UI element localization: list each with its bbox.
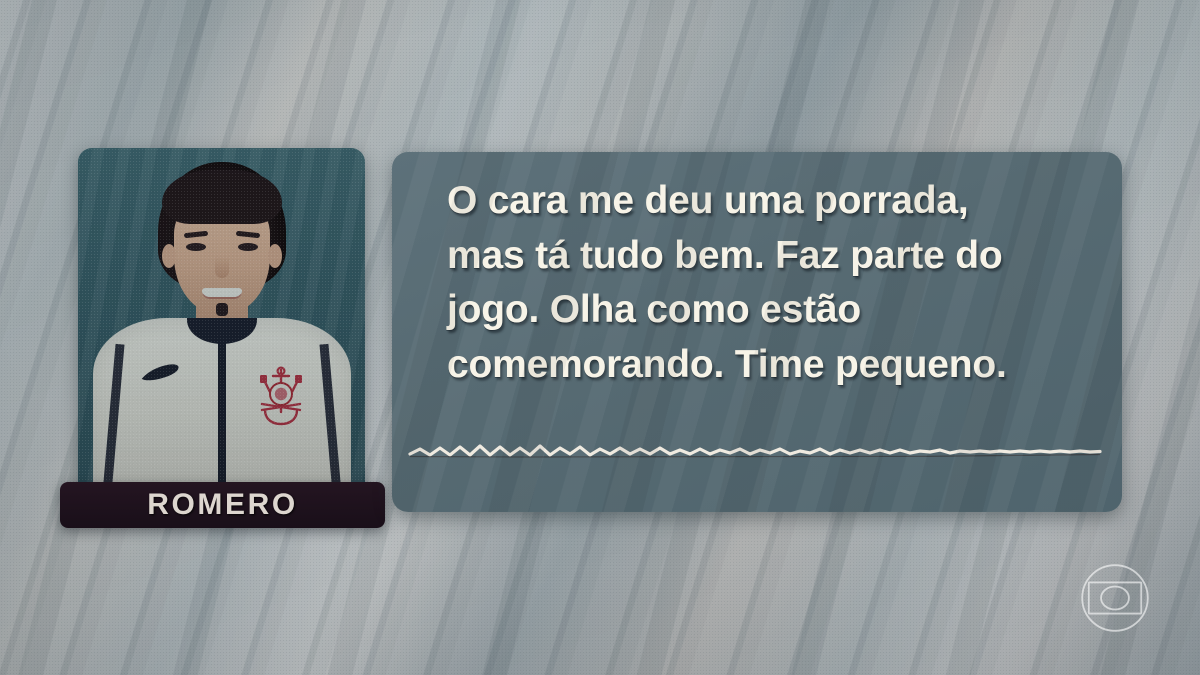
speaker-name-banner: ROMERO [60, 482, 385, 528]
speaker-name: ROMERO [147, 488, 298, 522]
quote-graphic-stage: ROMERO O cara me deu uma porrada, mas tá… [0, 0, 1200, 675]
quote-line-3: jogo. Olha como estão [447, 283, 1087, 338]
quote-line-4: comemorando. Time pequeno. [447, 338, 1087, 393]
quote-panel: O cara me deu uma porrada, mas tá tudo b… [392, 152, 1122, 512]
audio-waveform-icon [406, 440, 1106, 464]
quote-line-2: mas tá tudo bem. Faz parte do [447, 229, 1087, 284]
quote-line-1: O cara me deu uma porrada, [447, 174, 1087, 229]
globo-logo-icon [1074, 557, 1156, 639]
speaker-photo-card [78, 148, 365, 508]
photo-grain [78, 148, 365, 508]
quote-text: O cara me deu uma porrada, mas tá tudo b… [447, 174, 1087, 392]
